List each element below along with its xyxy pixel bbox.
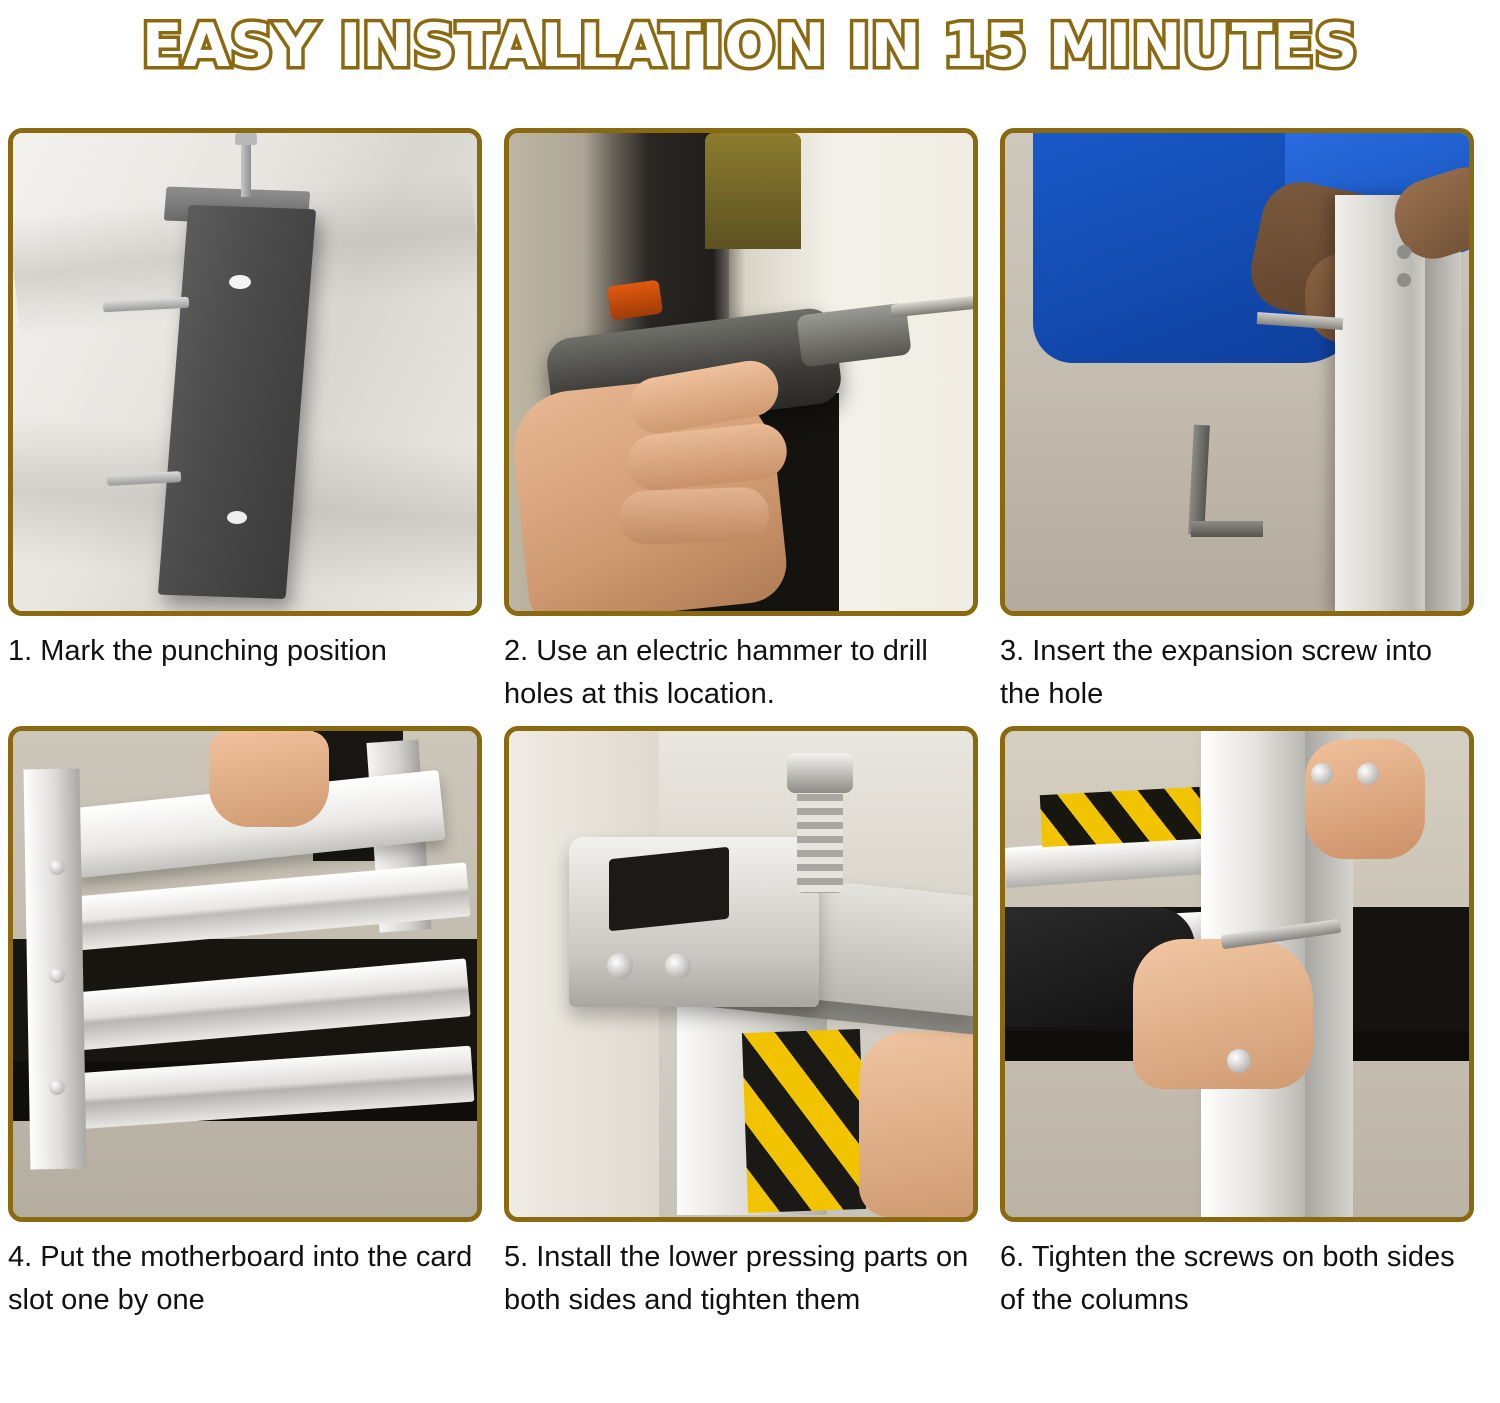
rod-cap (235, 133, 257, 145)
step-caption-1: 1. Mark the punching position (8, 630, 482, 673)
hand (1305, 739, 1425, 859)
banner-title: EASY INSTALLATION IN 15 MINUTES (142, 11, 1358, 81)
step-image-1 (8, 128, 482, 616)
step-caption-6: 6. Tighten the screws on both sides of t… (1000, 1236, 1474, 1322)
screw-head (1397, 273, 1411, 287)
step-image-6 (1000, 726, 1474, 1222)
hand (859, 1031, 978, 1217)
step-image-3 (1000, 128, 1474, 616)
bolt-head (787, 753, 853, 793)
step-caption-3: 3. Insert the expansion screw into the h… (1000, 630, 1474, 716)
installation-guide-page: EASY INSTALLATION IN 15 MINUTES 1. Mark … (0, 0, 1500, 1403)
step-card-6: 6. Tighten the screws on both sides of t… (1000, 726, 1492, 1322)
finger (618, 486, 770, 545)
mark-hole-lower (227, 511, 247, 524)
threaded-rod (241, 137, 251, 197)
step-image-2 (504, 128, 978, 616)
step-image-4 (8, 726, 482, 1222)
background-object (705, 133, 801, 249)
warning-stripe (1040, 787, 1203, 847)
step-card-5: 5. Install the lower pressing parts on b… (504, 726, 996, 1322)
hand (209, 731, 329, 827)
bracket-slot (609, 847, 729, 932)
screw-head (1227, 1049, 1251, 1073)
screw-head (1357, 763, 1379, 785)
step-card-4: 4. Put the motherboard into the card slo… (8, 726, 500, 1322)
screw-head (607, 953, 633, 979)
step-card-1: 1. Mark the punching position (8, 128, 500, 716)
floor (1355, 967, 1474, 1219)
step-caption-2: 2. Use an electric hammer to drill holes… (504, 630, 978, 716)
steps-grid: 1. Mark the punching position 2. Use an … (8, 128, 1492, 1322)
step-image-5 (504, 726, 978, 1222)
screw-head (49, 859, 65, 875)
screw-head (1397, 245, 1411, 259)
allen-wrench-arm-icon (1191, 521, 1263, 537)
mark-hole-upper (229, 275, 251, 289)
hand (1133, 939, 1313, 1089)
step-card-2: 2. Use an electric hammer to drill holes… (504, 128, 996, 716)
screw-head (49, 967, 65, 983)
screw-head (49, 1079, 65, 1095)
step-caption-4: 4. Put the motherboard into the card slo… (8, 1236, 482, 1322)
step-caption-5: 5. Install the lower pressing parts on b… (504, 1236, 978, 1322)
screw-head (1311, 763, 1333, 785)
step-card-3: 3. Insert the expansion screw into the h… (1000, 128, 1492, 716)
drill-trigger (607, 280, 663, 321)
warning-stripe (742, 1029, 866, 1213)
banner: EASY INSTALLATION IN 15 MINUTES (0, 0, 1500, 92)
screw-head (665, 953, 691, 979)
